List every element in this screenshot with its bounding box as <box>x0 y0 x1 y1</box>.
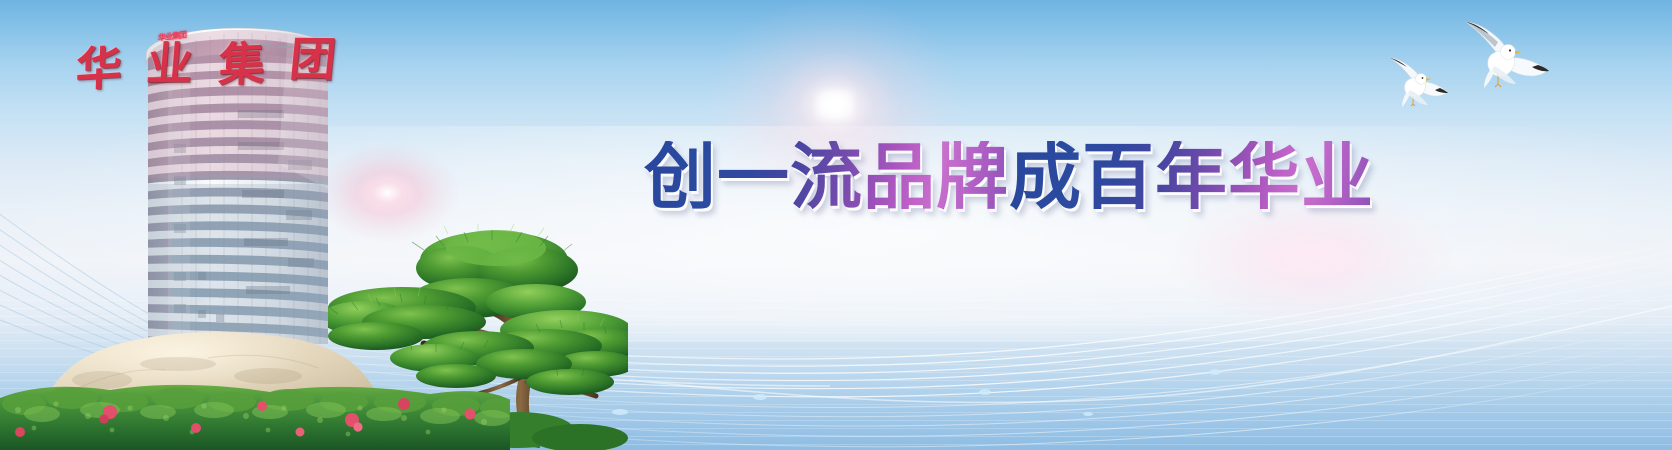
seagull-small <box>1380 48 1454 122</box>
seagull-large <box>1448 8 1556 116</box>
hero-banner: 华业集团 <box>0 0 1672 450</box>
trimmed-hedge <box>0 376 510 450</box>
slogan-part-1: 创一流品牌 <box>644 141 1009 213</box>
slogan-part-2: 成百年华业 <box>1009 141 1374 213</box>
slogan: 创一流品牌 成百年华业 <box>644 138 1350 216</box>
